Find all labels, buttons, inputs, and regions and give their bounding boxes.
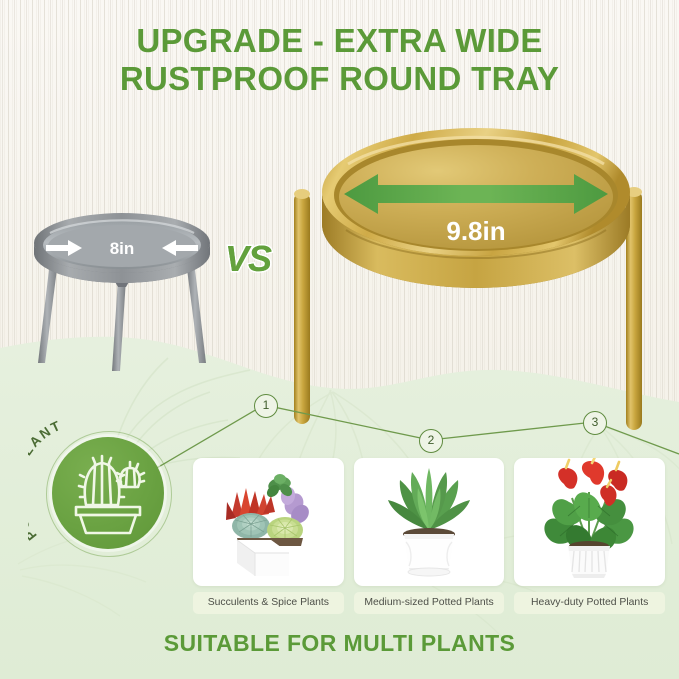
product-card-row (193, 458, 665, 588)
old-product-dimension-label: 8in (110, 239, 135, 258)
headline-line-1: UPGRADE - EXTRA WIDE (136, 22, 542, 59)
new-product-dimension-label: 9.8in (446, 216, 505, 246)
potted-plant-badge (52, 437, 164, 549)
footer-tagline: SUITABLE FOR MULTI PLANTS (0, 630, 679, 657)
headline: UPGRADE - EXTRA WIDE RUSTPROOF ROUND TRA… (0, 22, 679, 99)
step-marker-2: 2 (419, 429, 443, 453)
caption-anthurium: Heavy-duty Potted Plants (514, 592, 665, 614)
caption-aloe: Medium-sized Potted Plants (354, 592, 505, 614)
versus-label: VS (216, 236, 280, 282)
old-product-gray-tray: 8in (22, 195, 222, 395)
product-caption-row: Succulents & Spice Plants Medium-sized P… (193, 592, 665, 614)
product-card-succulents[interactable] (193, 458, 344, 586)
step-marker-3: 3 (583, 411, 607, 435)
step-marker-1: 1 (254, 394, 278, 418)
product-card-anthurium[interactable] (514, 458, 665, 586)
cactus-icon (52, 437, 164, 549)
product-card-aloe[interactable] (354, 458, 505, 586)
caption-succulents: Succulents & Spice Plants (193, 592, 344, 614)
anthurium-plant-icon (514, 458, 665, 586)
infographic-canvas: UPGRADE - EXTRA WIDE RUSTPROOF ROUND TRA… (0, 0, 679, 679)
succulent-plant-icon (193, 458, 344, 586)
headline-line-2: RUSTPROOF ROUND TRAY (0, 60, 679, 98)
aloe-plant-icon (354, 458, 505, 586)
